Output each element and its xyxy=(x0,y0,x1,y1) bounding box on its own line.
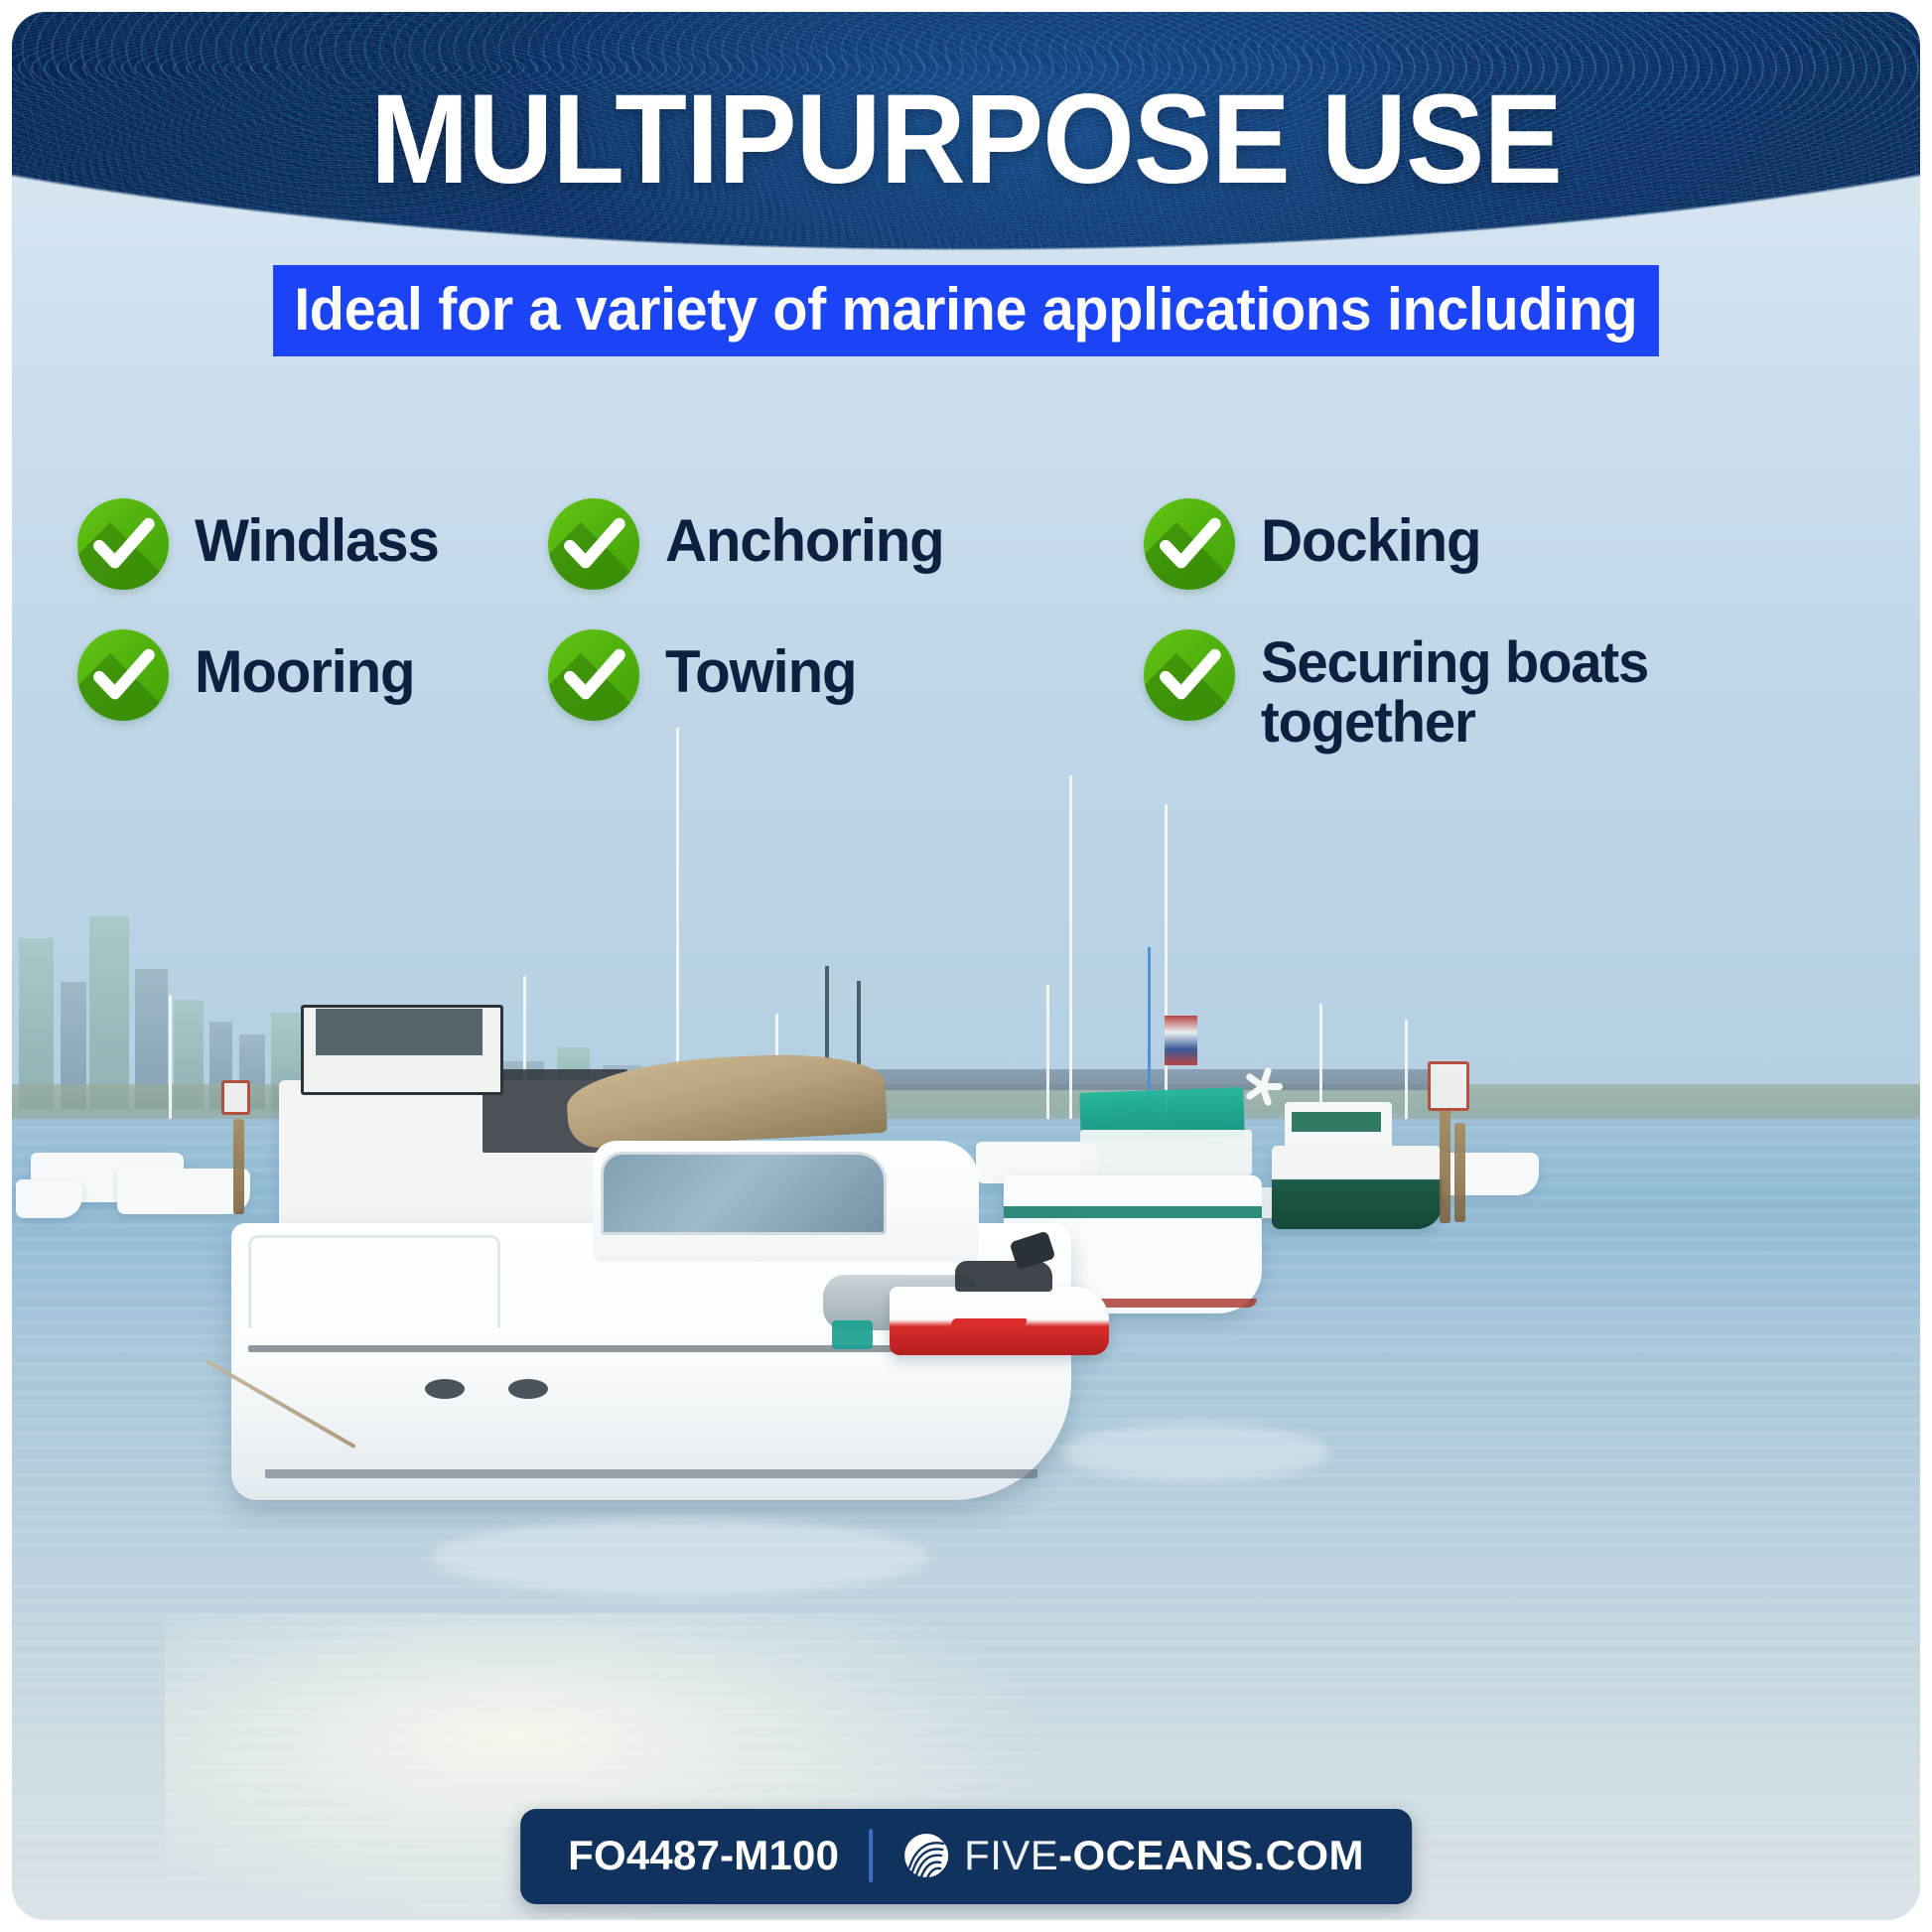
feature-label: Anchoring xyxy=(665,498,943,571)
feature-row: Windlass Anchoring Docking xyxy=(12,498,1920,590)
feature-item-anchoring: Anchoring xyxy=(548,498,1144,590)
wind-generator xyxy=(1241,1061,1285,1105)
channel-piling xyxy=(1454,1123,1465,1222)
check-circle-icon xyxy=(77,629,169,721)
american-flag xyxy=(1165,1016,1197,1065)
channel-marker-sign xyxy=(1428,1061,1469,1111)
product-sku: FO4487-M100 xyxy=(568,1832,839,1879)
brand-thin: FIVE xyxy=(964,1832,1058,1878)
feature-item-securing-boats-together: Securing boats together xyxy=(1144,629,1779,754)
channel-marker-sign xyxy=(221,1080,250,1115)
footer-badge: FO4487-M100 FIVE-OCEANS.COM xyxy=(520,1809,1412,1904)
distant-sailboat xyxy=(117,1169,251,1214)
feature-label: Docking xyxy=(1261,498,1480,571)
badge-divider xyxy=(869,1829,873,1882)
feature-label: Towing xyxy=(665,629,856,702)
promo-card: MULTIPURPOSE USE Ideal for a variety of … xyxy=(12,12,1920,1920)
brand-bold: -OCEANS.COM xyxy=(1058,1832,1364,1878)
feature-list: Windlass Anchoring Docking xyxy=(12,479,1920,796)
feature-item-mooring: Mooring xyxy=(12,629,548,754)
feature-item-towing: Towing xyxy=(548,629,1144,754)
feature-label: Mooring xyxy=(195,629,414,702)
green-hull-trawler xyxy=(1272,1146,1444,1230)
channel-piling xyxy=(233,1119,244,1214)
channel-piling xyxy=(1440,1109,1450,1223)
check-circle-icon xyxy=(1144,629,1235,721)
feature-item-windlass: Windlass xyxy=(12,498,548,590)
page-title: MULTIPURPOSE USE xyxy=(78,73,1853,206)
boom xyxy=(1080,1130,1252,1175)
distant-sailboat xyxy=(16,1179,82,1217)
feature-row: Mooring Towing Securing boats together xyxy=(12,629,1920,754)
subtitle-wrap: Ideal for a variety of marine applicatio… xyxy=(12,265,1920,356)
check-circle-icon xyxy=(77,498,169,590)
jet-ski xyxy=(890,1287,1109,1355)
five-oceans-shell-icon xyxy=(902,1832,950,1879)
feature-label: Windlass xyxy=(195,498,439,571)
check-circle-icon xyxy=(548,498,639,590)
feature-label: Securing boats together xyxy=(1261,629,1714,754)
foreground-motor-yacht xyxy=(231,1223,1071,1500)
brand-text: FIVE-OCEANS.COM xyxy=(964,1832,1364,1879)
brand-lockup: FIVE-OCEANS.COM xyxy=(902,1832,1364,1879)
check-circle-icon xyxy=(1144,498,1235,590)
subtitle-banner: Ideal for a variety of marine applicatio… xyxy=(273,265,1658,356)
feature-item-docking: Docking xyxy=(1144,498,1779,590)
check-circle-icon xyxy=(548,629,639,721)
mooring-buoy xyxy=(832,1320,872,1349)
